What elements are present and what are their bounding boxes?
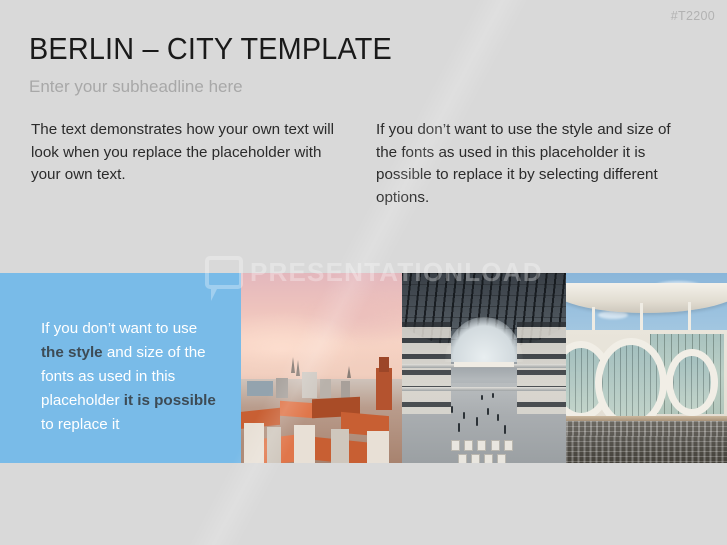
blue-panel-text: If you don’t want to use the style and s… — [41, 317, 216, 437]
photo-3-artwork — [566, 273, 727, 463]
page-title: BERLIN – CITY TEMPLATE — [29, 31, 392, 67]
photo-1-artwork — [241, 273, 402, 463]
body-text-right: If you don’t want to use the style and s… — [376, 119, 691, 209]
body-text-left: The text demonstrates how your own text … — [31, 119, 351, 187]
photo-luedershaus — [566, 273, 727, 463]
image-band: If you don’t want to use the style and s… — [0, 273, 727, 463]
photo-berlin-skyline — [241, 273, 402, 463]
blue-text-panel: If you don’t want to use the style and s… — [0, 273, 241, 463]
blue-text-part-1: If you don’t want to use — [41, 320, 197, 337]
blue-text-highlight-1: the style — [41, 344, 103, 361]
photo-2-artwork — [402, 273, 566, 463]
blue-text-highlight-2: it is — [124, 392, 150, 409]
photo-mall-of-berlin — [402, 273, 566, 463]
template-code-badge: #T2200 — [671, 9, 715, 23]
slide-canvas: #T2200 BERLIN – CITY TEMPLATE Enter your… — [0, 0, 727, 545]
page-subheadline: Enter your subheadline here — [29, 76, 243, 98]
blue-text-highlight-3: possible — [154, 392, 216, 409]
blue-text-part-3: to replace it — [41, 416, 120, 433]
